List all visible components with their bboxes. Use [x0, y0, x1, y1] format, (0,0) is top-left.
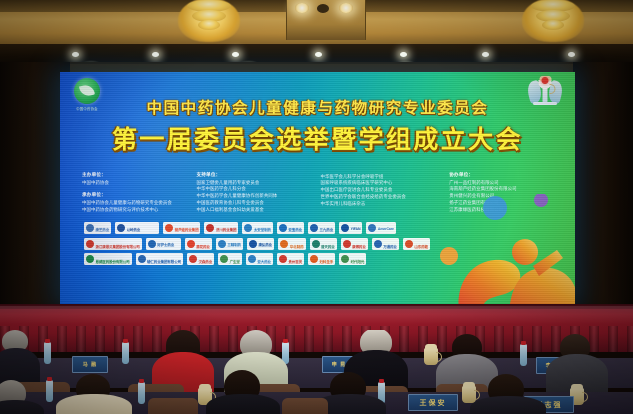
organizer-heading: 承办单位：	[82, 192, 196, 198]
conference-hall-photo: 中国中药协会 中国中药协会儿童健康与药物研究专业委员会 第一届委员会选举暨学组成…	[0, 0, 633, 414]
sponsor-name: 华北制药	[290, 245, 304, 249]
sponsor-name: 辅仁药业集团有限公司	[147, 260, 181, 264]
event-title-line2: 第一届委员会选举暨学组成立大会	[60, 120, 575, 156]
sponsor-text: 亚大药业	[257, 253, 271, 265]
chandelier-left	[178, 0, 240, 44]
organizer-line: 海南葫芦娃药业集团股份有限公司	[449, 186, 559, 193]
sponsor-mark-icon	[368, 224, 376, 232]
sponsor-text: 时代阳光	[351, 253, 365, 265]
organizer-line: 国家呼吸系统疾病临床医学研究中心	[320, 180, 449, 187]
sponsor-mark-icon	[187, 240, 195, 248]
attendee-body	[206, 394, 280, 414]
sponsor-text: 好护士药业Hao Pharmaceutical	[157, 238, 179, 250]
sponsor-mark-icon	[374, 240, 382, 248]
sponsor-logo: 山东药玻	[403, 238, 430, 250]
sponsor-text: 恩威医药股份有限公司	[96, 253, 130, 265]
sponsor-name: 以岭药业	[127, 228, 141, 232]
sponsor-logo: 妇科圣手	[308, 253, 335, 265]
sponsor-mark-icon	[343, 240, 351, 248]
stage-highlight	[0, 306, 633, 324]
sponsor-logo: AmerCare安美康	[366, 222, 395, 234]
sponsor-text: 贵州百灵	[288, 253, 302, 265]
sponsor-mark-icon	[86, 255, 94, 263]
sponsor-name: 浙江康恩贝集团股份有限公司	[96, 245, 140, 249]
sponsor-logo: 葫芦娃药业集团HULUWA	[163, 222, 200, 234]
sponsor-mark-icon	[244, 224, 252, 232]
organizer-group: 支持单位： 国家卫健委儿童用药专家委员会 中华中医药学会儿科分会 中华中医药学会…	[196, 172, 320, 214]
organizer-group: 承办单位： 中国中药协会儿童健康与药物研究专业委员会 中国中药协会药物研究与评价…	[82, 192, 196, 213]
spotlight	[152, 52, 159, 57]
sponsor-name: 葵花药业	[196, 245, 210, 249]
sponsor-name: 恩威医药股份有限公司	[96, 260, 130, 264]
sponsor-mark-icon	[165, 224, 173, 232]
organizer-line: 中华中医药学会儿童健康协作创新共同体	[196, 193, 320, 200]
chair	[282, 398, 328, 414]
organizer-heading: 协办单位：	[449, 172, 559, 178]
sponsor-text: YIFAN亿帆医药	[351, 222, 361, 234]
sponsor-name: 时代阳光	[351, 260, 365, 264]
sponsor-name: YIFAN	[351, 227, 361, 231]
projector-lens-right	[339, 3, 353, 13]
sponsor-mark-icon	[279, 255, 287, 263]
sponsor-logo: 万通药业	[372, 238, 399, 250]
water-bottle	[138, 382, 145, 404]
audience-area: 马 融 申 昆 李 权	[0, 330, 633, 414]
organizer-line: 中华中医药学会儿科分会	[196, 186, 320, 193]
children-graphic	[429, 194, 575, 304]
sponsor-name: 汉森药业	[199, 260, 213, 264]
sponsor-logo: 康博药业	[341, 238, 368, 250]
sponsor-mark-icon	[86, 224, 94, 232]
sponsor-name: 山东药玻	[414, 245, 428, 249]
sponsor-text: 济川药业集团JICHUAN	[216, 222, 236, 234]
sponsor-name: 普天药业	[321, 245, 335, 249]
organizer-line: 中国中药协会药物研究与评价技术中心	[82, 207, 196, 214]
sponsor-name: 万通药业	[383, 245, 397, 249]
sponsor-logo: 华北制药	[278, 238, 305, 250]
sponsor-text: 太安堂制药TAI AN TANG	[254, 222, 271, 234]
sponsor-logo: 浙江康恩贝集团股份有限公司	[84, 238, 142, 250]
sponsor-name: 葫芦娃药业集团	[175, 228, 199, 232]
chandelier-tier	[542, 20, 564, 30]
sponsor-mark-icon	[310, 224, 318, 232]
sponsor-name: 亚宝药业	[288, 228, 302, 232]
sponsor-mark-icon	[189, 255, 197, 263]
sponsor-logo: 康芝药业K-ZHI	[84, 222, 111, 234]
sponsor-mark-icon	[138, 255, 146, 263]
sponsor-logo: 葵花药业	[185, 238, 212, 250]
orange-dot	[440, 247, 458, 265]
sponsor-text: 康芝药业K-ZHI	[96, 222, 110, 234]
name-placard: 马 融	[72, 356, 108, 373]
emblem-red-dot	[542, 77, 549, 84]
sponsor-logo: 康弘药业KANGHONG	[247, 238, 274, 250]
organizer-column-1: 主办单位： 中国中药协会 承办单位： 中国中药协会儿童健康与药物研究专业委员会 …	[82, 172, 196, 220]
sponsor-text: 普天药业	[321, 238, 335, 250]
sponsor-name: 妇科圣手	[320, 260, 334, 264]
spotlight	[482, 52, 489, 57]
projector-body	[317, 4, 329, 13]
organizer-line: 中国人口福利基金会妇幼关爱基金	[196, 207, 320, 214]
sponsor-name: 太安堂制药	[254, 228, 271, 232]
chair	[148, 398, 198, 414]
sponsor-logo: 以岭药业YILING PHARMACEUTICAL	[115, 222, 159, 234]
led-screen: 中国中药协会 中国中药协会儿童健康与药物研究专业委员会 第一届委员会选举暨学组成…	[60, 72, 575, 304]
sponsor-text: 万通药业	[383, 238, 397, 250]
sponsor-mark-icon	[86, 240, 94, 248]
attendee-body	[56, 394, 132, 414]
placard-name: 王保安	[420, 398, 447, 408]
sponsor-logo: 太安堂制药TAI AN TANG	[242, 222, 273, 234]
organizer-line: 中华医学会儿科学分会呼吸学组	[320, 174, 449, 181]
sponsor-mark-icon	[117, 224, 125, 232]
spotlight	[72, 52, 79, 57]
sponsor-mark-icon	[341, 224, 349, 232]
sponsor-name: AmerCare	[378, 227, 394, 231]
organizer-line: 中国中药协会	[82, 180, 196, 187]
organizer-heading: 支持单位：	[196, 172, 320, 178]
water-bottle	[44, 342, 51, 364]
sponsor-mark-icon	[220, 255, 228, 263]
sponsor-logo: 亚大药业	[246, 253, 273, 265]
spotlight	[315, 52, 322, 57]
spotlight	[232, 52, 239, 57]
blue-dot	[483, 196, 507, 220]
sponsor-text: 广生堂	[230, 253, 240, 265]
sponsor-logo: 三精制药SANJING	[216, 238, 243, 250]
sponsor-logo: 广生堂	[218, 253, 242, 265]
sponsor-name: 三精制药	[227, 243, 241, 247]
sponsor-logo: 好护士药业Hao Pharmaceutical	[146, 238, 181, 250]
sponsor-mark-icon	[248, 255, 256, 263]
sponsor-text: 康博药业	[352, 238, 366, 250]
name-placard: 王保安	[408, 394, 458, 411]
sponsor-logo: 济川药业集团JICHUAN	[204, 222, 238, 234]
water-bottle	[46, 380, 53, 402]
organizer-line: 广州一品红制药有限公司	[449, 180, 559, 187]
sponsor-text: 亚宝药业YABAO	[288, 222, 302, 234]
purple-dot	[534, 194, 548, 207]
sponsor-logo: 辅仁药业集团有限公司	[136, 253, 184, 265]
spotlight	[400, 52, 407, 57]
tea-cup	[462, 386, 476, 403]
sponsor-mark-icon	[405, 240, 413, 248]
sponsor-mark-icon	[148, 240, 156, 248]
organizer-line: 中国出口医疗促进会儿科专业委员会	[320, 187, 449, 194]
sponsor-logo: YIFAN亿帆医药	[339, 222, 362, 234]
sponsor-mark-icon	[280, 240, 288, 248]
sponsor-text: AmerCare安美康	[378, 222, 394, 234]
sponsor-name: 康博药业	[352, 245, 366, 249]
organizer-column-2: 支持单位： 国家卫健委儿童用药专家委员会 中华中医药学会儿科分会 中华中医药学会…	[196, 172, 320, 220]
sponsor-text: 妇科圣手	[320, 253, 334, 265]
sponsor-mark-icon	[310, 255, 318, 263]
sponsor-logo: 普天药业	[310, 238, 337, 250]
sponsor-text: 葫芦娃药业集团HULUWA	[175, 222, 199, 234]
event-title-line1: 中国中药协会儿童健康与药物研究专业委员会	[60, 96, 575, 118]
organizer-line: 国家卫健委儿童用药专家委员会	[196, 180, 320, 187]
sponsor-logo: 贵州百灵	[277, 253, 304, 265]
sponsor-text: 辅仁药业集团有限公司	[147, 253, 181, 265]
sponsor-text: 三九药业999	[320, 222, 334, 234]
sponsor-name: 济川药业集团	[216, 228, 236, 232]
sponsor-text: 康弘药业KANGHONG	[258, 238, 272, 250]
sponsor-name: 亚大药业	[257, 260, 271, 264]
organizer-heading: 主办单位：	[82, 172, 196, 178]
sponsor-name: 好护士药业	[157, 243, 174, 247]
sponsor-mark-icon	[206, 224, 214, 232]
child-head-right	[512, 239, 538, 265]
sponsor-text: 汉森药业	[199, 253, 213, 265]
projector-lens-left	[295, 3, 309, 13]
sponsor-mark-icon	[341, 255, 349, 263]
placard-name: 马 融	[83, 361, 97, 368]
sponsor-mark-icon	[312, 240, 320, 248]
spotlight	[568, 52, 575, 57]
sponsor-mark-icon	[279, 224, 287, 232]
organizer-line: 中国医药教育协会儿科专业委员会	[196, 200, 320, 207]
tea-cup	[424, 348, 438, 365]
sponsor-name: 三九药业	[320, 228, 334, 232]
sponsor-name: 康芝药业	[96, 228, 110, 232]
sponsor-name: 康弘药业	[258, 243, 272, 247]
chandelier-right	[522, 0, 584, 44]
sponsor-text: 三精制药SANJING	[227, 238, 241, 250]
sponsor-mark-icon	[218, 240, 226, 248]
sponsor-logo: 时代阳光	[339, 253, 366, 265]
chandelier-tier	[198, 20, 220, 30]
sponsor-logo: 三九药业999	[308, 222, 335, 234]
sponsor-logo: 亚宝药业YABAO	[277, 222, 304, 234]
sponsor-text: 山东药玻	[414, 238, 428, 250]
sponsor-name: 广生堂	[230, 260, 240, 264]
attendee-body	[470, 396, 546, 414]
sponsor-mark-icon	[249, 240, 257, 248]
sponsor-text: 以岭药业YILING PHARMACEUTICAL	[127, 222, 158, 234]
sponsor-text: 华北制药	[290, 238, 304, 250]
sponsor-name: 贵州百灵	[288, 260, 302, 264]
sponsor-logo: 汉森药业	[187, 253, 214, 265]
organizer-line: 中国中药协会儿童健康与药物研究专业委员会	[82, 200, 196, 207]
child-figure-left	[458, 260, 520, 304]
sponsor-text: 浙江康恩贝集团股份有限公司	[96, 238, 140, 250]
water-bottle	[520, 344, 527, 366]
organizer-group: 主办单位： 中国中药协会	[82, 172, 196, 186]
water-bottle	[122, 342, 129, 364]
sponsor-text: 葵花药业	[196, 238, 210, 250]
stage-curtain-right	[573, 62, 633, 324]
ceiling-projector	[286, 0, 366, 40]
sponsor-logo: 恩威医药股份有限公司	[84, 253, 132, 265]
